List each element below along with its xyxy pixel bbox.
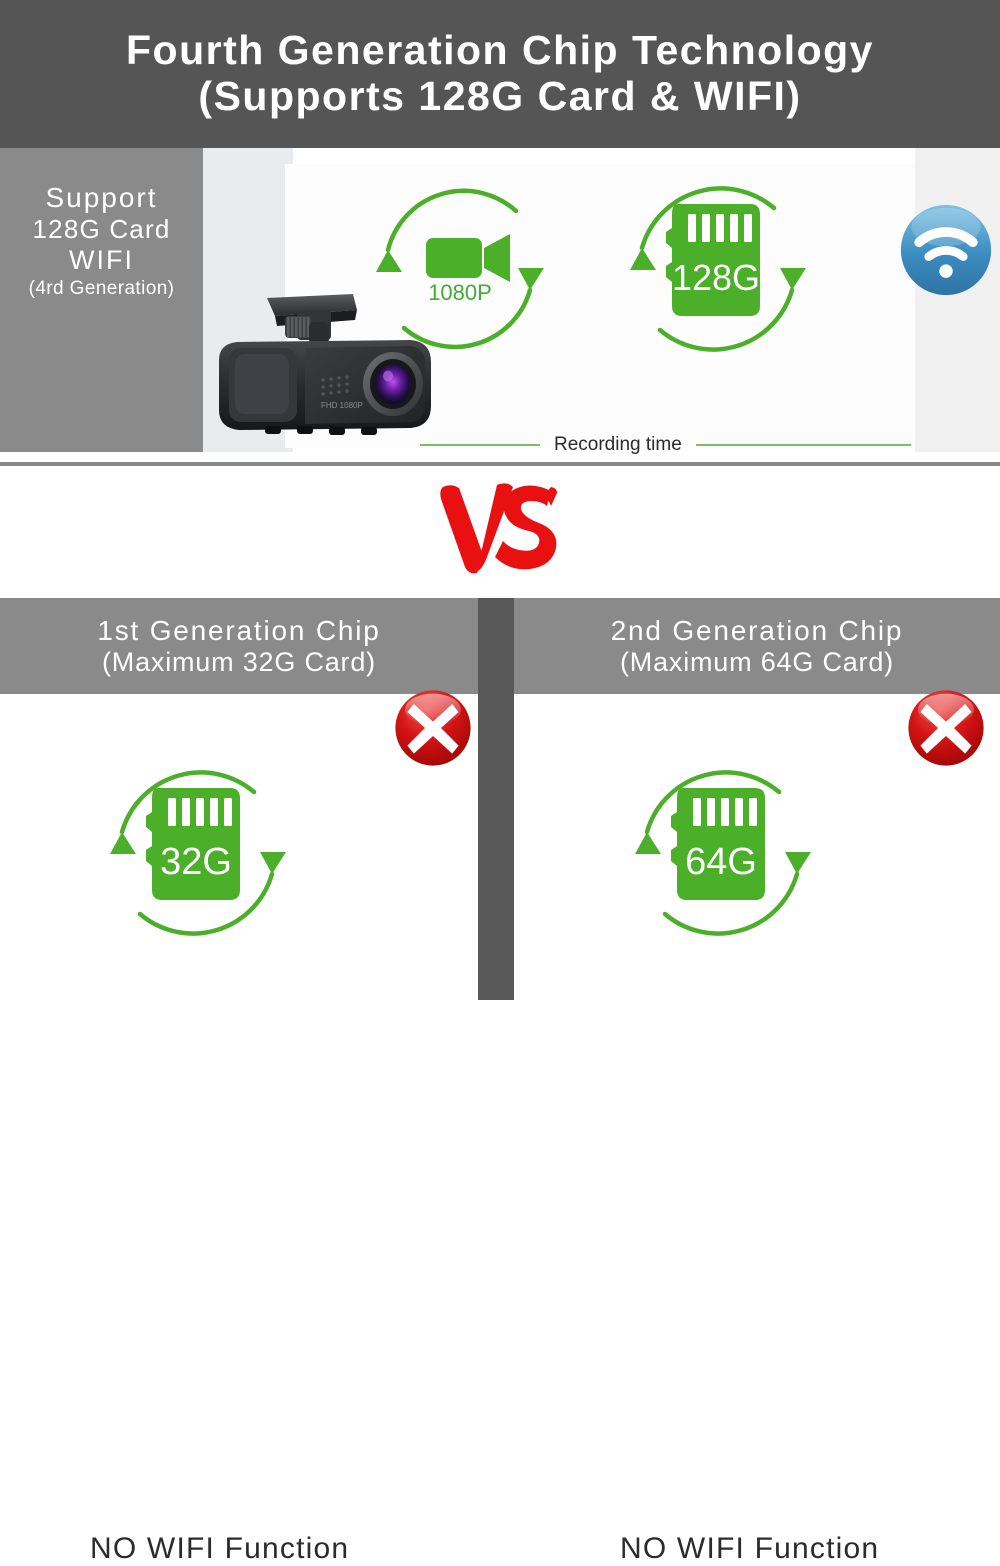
circular-arrows-icon: 128G xyxy=(620,174,820,364)
recording-time-text: Recording time xyxy=(540,434,696,456)
feature-section: Support 128G Card WIFI (4rd Generation) xyxy=(0,148,1000,458)
gen2-subtitle: (Maximum 64G Card) xyxy=(620,647,894,679)
page-header: Fourth Generation Chip Technology (Suppo… xyxy=(0,0,1000,148)
support-generation-note: (4rd Generation) xyxy=(29,277,175,301)
header-line-2: (Supports 128G Card & WIFI) xyxy=(198,74,801,120)
versus-icon xyxy=(435,479,565,583)
support-subtitle: 128G Card xyxy=(33,214,171,245)
red-x-icon-right xyxy=(906,688,986,768)
comparison-band-left: 1st Generation Chip (Maximum 32G Card) xyxy=(0,598,478,694)
sd-card-capacity-32g: 32G xyxy=(160,841,232,883)
gen1-title: 1st Generation Chip xyxy=(97,614,380,647)
rotation-badge-128g: 128G xyxy=(620,174,820,364)
gen2-footer: NO WIFI Function xyxy=(620,1532,879,1566)
versus-area xyxy=(0,466,1000,596)
recording-time-caption: Recording time xyxy=(420,433,900,457)
product-photo-backdrop-right xyxy=(915,148,1000,452)
header-line-1: Fourth Generation Chip Technology xyxy=(126,28,874,74)
gen1-subtitle: (Maximum 32G Card) xyxy=(102,647,376,679)
comparison-band-right: 2nd Generation Chip (Maximum 64G Card) xyxy=(514,598,1000,694)
video-camera-icon xyxy=(426,238,482,278)
support-wifi-label: WIFI xyxy=(69,245,134,277)
rotation-badge-32g: 32G xyxy=(100,758,300,948)
wifi-icon xyxy=(898,202,994,298)
comparison-divider xyxy=(478,598,514,1000)
rotation-badge-1080p: 1080P xyxy=(370,180,550,360)
gen1-footer: NO WIFI Function xyxy=(90,1532,349,1566)
red-x-icon-left xyxy=(393,688,473,768)
gen2-title: 2nd Generation Chip xyxy=(611,614,904,647)
support-title: Support xyxy=(45,181,157,214)
caption-rule-left xyxy=(420,444,540,446)
rotation-label-1080p: 1080P xyxy=(370,280,550,306)
rotation-badge-64g: 64G xyxy=(625,758,825,948)
promo-infographic: Fourth Generation Chip Technology (Suppo… xyxy=(0,0,1000,1000)
circular-arrows-icon xyxy=(370,180,550,360)
support-panel: Support 128G Card WIFI (4rd Generation) xyxy=(0,148,203,452)
dashcam-body-label: FHD 1080P xyxy=(321,401,363,410)
sd-card-capacity-64g: 64G xyxy=(685,841,757,883)
caption-rule-right xyxy=(696,444,911,446)
sd-card-capacity-128g: 128G xyxy=(672,257,760,298)
